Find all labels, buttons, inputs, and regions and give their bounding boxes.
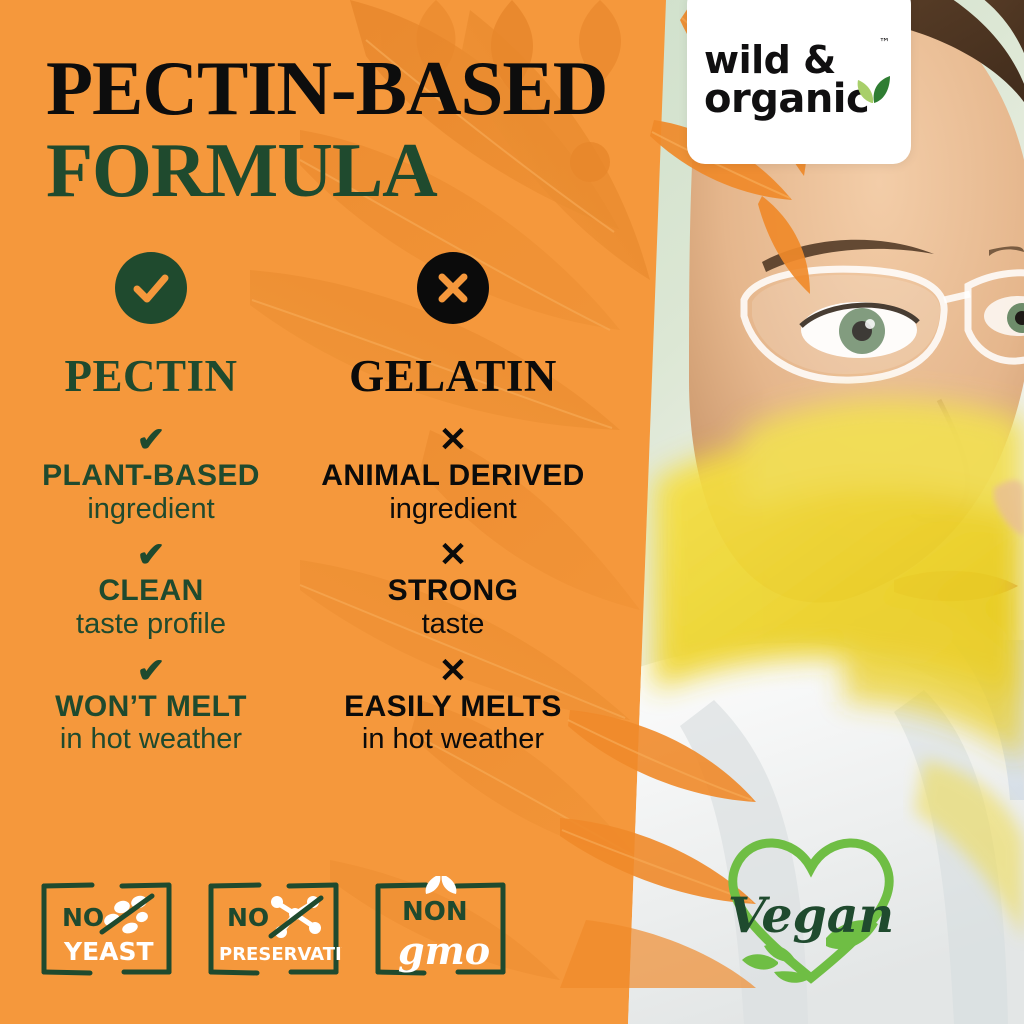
product-infographic-poster: ™ wild & organic PECTIN-BASED FORMULA PE…: [0, 0, 1024, 1024]
claim-badge-non-gmo: NON gmo: [372, 876, 509, 980]
comparison-cell-line2: ingredient: [0, 493, 302, 525]
comparison-cell-pectin: ✔ PLANT-BASED ingredient: [0, 420, 302, 525]
no-yeast-badge-icon: NO YEAST: [38, 876, 175, 980]
brand-logo-card[interactable]: ™ wild & organic: [687, 0, 911, 164]
claim-bottom-label: gmo: [398, 928, 490, 973]
claim-top-label: NO: [62, 903, 104, 932]
comparison-cell-gelatin: ✕ ANIMAL DERIVED ingredient: [302, 420, 604, 525]
comparison-cell-line2: taste: [302, 608, 604, 640]
comparison-row: ✔ CLEAN taste profile ✕ STRONG taste: [0, 535, 604, 640]
page-title: PECTIN-BASED FORMULA: [46, 52, 666, 208]
claim-top-label: NON: [402, 897, 468, 927]
claim-badges: NO YEAST NO: [38, 876, 509, 980]
check-mark-icon: ✔: [0, 651, 302, 691]
comparison-rows: ✔ PLANT-BASED ingredient ✕ ANIMAL DERIVE…: [0, 420, 604, 756]
comparison-row: ✔ PLANT-BASED ingredient ✕ ANIMAL DERIVE…: [0, 420, 604, 525]
non-gmo-badge-icon: NON gmo: [372, 876, 509, 980]
comparison-cell-gelatin: ✕ STRONG taste: [302, 535, 604, 640]
brand-leaf-icon: [854, 72, 898, 112]
comparison-cell-line2: in hot weather: [302, 723, 604, 755]
comparison-cell-line1: PLANT-BASED: [0, 460, 302, 492]
cross-circle-icon: [417, 252, 489, 324]
claim-bottom-label: YEAST: [63, 937, 154, 966]
comparison-cell-line2: taste profile: [0, 608, 302, 640]
cross-mark-icon: ✕: [302, 535, 604, 575]
comparison-cell-gelatin: ✕ EASILY MELTS in hot weather: [302, 651, 604, 756]
comparison-column-pectin: PECTIN: [0, 252, 302, 402]
comparison-column-gelatin: GELATIN: [302, 252, 604, 402]
comparison-row: ✔ WON’T MELT in hot weather ✕ EASILY MEL…: [0, 651, 604, 756]
check-mark-icon: ✔: [0, 535, 302, 575]
comparison-cell-pectin: ✔ WON’T MELT in hot weather: [0, 651, 302, 756]
cross-mark-icon: ✕: [302, 420, 604, 460]
claim-badge-no-yeast: NO YEAST: [38, 876, 175, 980]
leaf-sprout-icon: [426, 876, 457, 894]
cross-mark-icon: ✕: [302, 651, 604, 691]
comparison-cell-line2: in hot weather: [0, 723, 302, 755]
check-mark-icon: ✔: [0, 420, 302, 460]
headline-line1: PECTIN-BASED: [46, 52, 666, 126]
comparison-header-row: PECTIN GELATIN: [0, 252, 604, 402]
trademark-symbol: ™: [879, 36, 890, 49]
comparison-cell-line1: WON’T MELT: [0, 691, 302, 723]
vegan-seal: Vegan: [716, 820, 906, 1000]
cross-glyph-icon: [433, 268, 473, 308]
headline-line2: FORMULA: [46, 134, 666, 208]
comparison-table: PECTIN GELATIN ✔ PLANT-BASED ingredient: [0, 252, 604, 766]
claim-top-label: NO: [227, 903, 269, 932]
check-glyph-icon: [130, 267, 172, 309]
comparison-cell-line1: STRONG: [302, 575, 604, 607]
comparison-cell-line2: ingredient: [302, 493, 604, 525]
no-preservatives-badge-icon: NO PRESERVATIVES: [205, 876, 342, 980]
check-circle-icon: [115, 252, 187, 324]
claim-badge-no-preservatives: NO PRESERVATIVES: [205, 876, 342, 980]
comparison-cell-line1: CLEAN: [0, 575, 302, 607]
comparison-column-title-pectin: PECTIN: [0, 350, 302, 402]
comparison-cell-line1: ANIMAL DERIVED: [302, 460, 604, 492]
vegan-seal-label: Vegan: [728, 886, 894, 944]
comparison-column-title-gelatin: GELATIN: [302, 350, 604, 402]
comparison-cell-line1: EASILY MELTS: [302, 691, 604, 723]
comparison-cell-pectin: ✔ CLEAN taste profile: [0, 535, 302, 640]
claim-bottom-label: PRESERVATIVES: [219, 944, 342, 965]
